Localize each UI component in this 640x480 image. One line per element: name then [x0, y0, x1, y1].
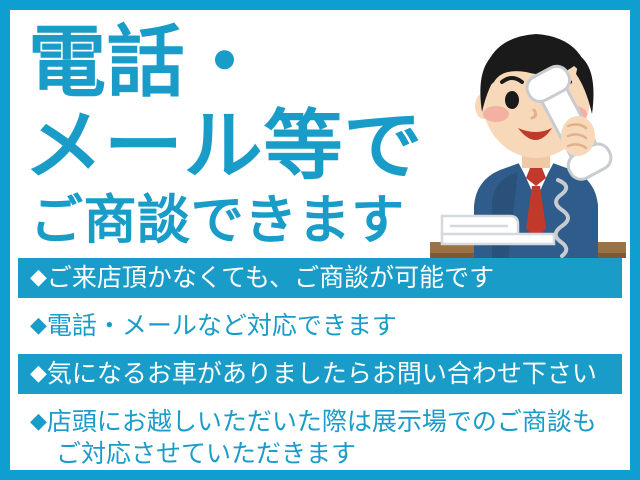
diamond-bullet-icon: ◆: [30, 313, 47, 338]
bullet-item-3: ◆気になるお車がありましたらお問い合わせ下さい: [18, 354, 622, 394]
headline-line-1: 電話・: [28, 24, 464, 102]
promo-banner: 電話・ メール等で ご商談できます ◆ご来店頂かなくても、ご商談が可能です ◆電…: [0, 0, 640, 480]
diamond-bullet-icon: ◆: [30, 409, 47, 434]
bullet-item-4-label-line2: ご対応させていただきます: [30, 438, 622, 470]
eye-left: [505, 91, 519, 109]
diamond-bullet-icon: ◆: [30, 265, 47, 290]
suit-right-arm: [572, 170, 598, 248]
bullet-item-4-label: 店頭にお越しいただいた際は展示場でのご商談も: [47, 407, 597, 436]
headline-line-3: ご商談できます: [30, 194, 464, 247]
bullet-item-3-label: 気になるお車がありましたらお問い合わせ下さい: [47, 359, 597, 388]
hand: [561, 116, 595, 156]
blush-left: [483, 106, 509, 122]
bullet-list: ◆ご来店頂かなくても、ご商談が可能です ◆電話・メールなど対応できます ◆気にな…: [10, 252, 630, 470]
bullet-item-2-label: 電話・メールなど対応できます: [47, 311, 397, 340]
banner-inner: 電話・ メール等で ご商談できます ◆ご来店頂かなくても、ご商談が可能です ◆電…: [10, 10, 630, 470]
bullet-item-2: ◆電話・メールなど対応できます: [18, 306, 622, 346]
headline-block: 電話・ メール等で ご商談できます: [24, 12, 464, 247]
bullet-item-1-label: ご来店頂かなくても、ご商談が可能です: [47, 263, 494, 292]
bullet-item-1: ◆ご来店頂かなくても、ご商談が可能です: [18, 258, 622, 298]
bullet-item-4: ◆店頭にお越しいただいた際は展示場でのご商談も ご対応させていただきます: [18, 402, 622, 470]
diamond-bullet-icon: ◆: [30, 361, 47, 386]
headline-line-2: メール等で: [24, 108, 482, 184]
